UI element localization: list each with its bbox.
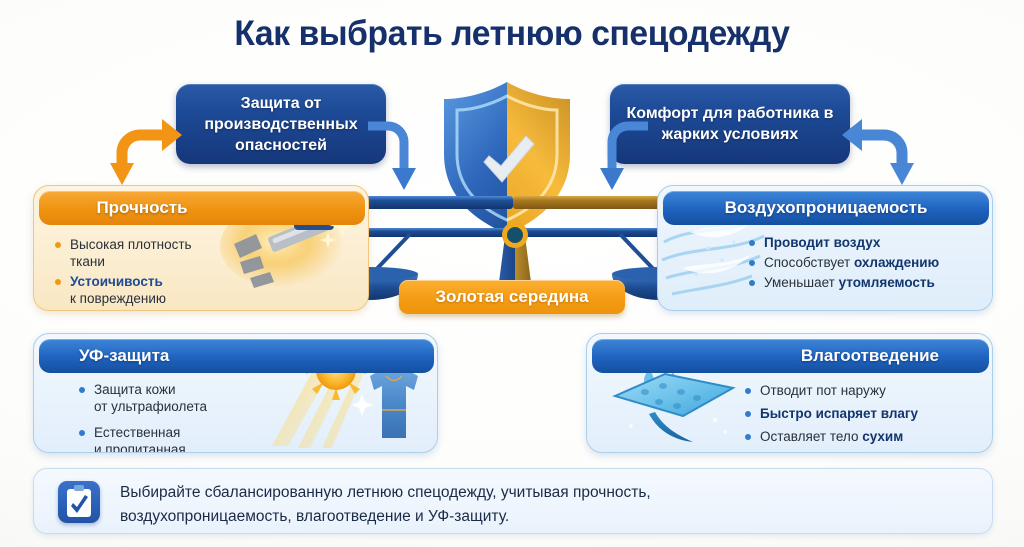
clipboard-check-icon: [58, 481, 100, 523]
card-breathability-list: Проводит воздух Способствует охлаждению …: [748, 234, 988, 294]
card-strength-list: Высокая плотность ткани Устоичивость к п…: [54, 236, 254, 310]
card-wicking-list: Отводит пот наружу Быстро испаряет влагу…: [744, 382, 993, 451]
list-item: Уменьшает утомляемость: [748, 274, 988, 291]
list-item: Отводит пот наружу: [744, 382, 993, 399]
list-item: Способствует охлаждению: [748, 254, 988, 271]
footer-text: Выбирайте сбалансированную летнюю спецод…: [120, 481, 972, 529]
list-item: Оставляет тело сухим: [744, 428, 993, 445]
card-breathability-title: Воздухопроницаемость: [663, 191, 989, 225]
infographic-canvas: Как выбрать летнюю спецодежду Защита от …: [0, 0, 1024, 547]
card-uv-list: Защита кожи от ультрафиолета Естественна…: [78, 381, 298, 453]
list-item: Естественная и пропитанная: [78, 424, 298, 453]
card-uv-protection: УФ-защита Защита кожи от ультрафиолета Е…: [33, 333, 438, 453]
list-item: Устоичивость к повреждению: [54, 273, 254, 307]
list-item: Быстро испаряет влагу: [744, 405, 993, 422]
card-strength: Прочность Высокая плотность ткани Устоич…: [33, 185, 369, 311]
list-item: Высокая плотность ткани: [54, 236, 254, 270]
curved-arrow-blue-icon: [842, 105, 914, 197]
golden-middle-badge: Золотая середина: [399, 280, 625, 314]
top-box-hazard-protection: Защита от производственных опасностей: [176, 84, 386, 164]
page-title: Как выбрать летнюю спецодежду: [20, 14, 1003, 54]
footer-summary: Выбирайте сбалансированную летнюю спецод…: [33, 468, 993, 534]
card-uv-title: УФ-защита: [39, 339, 434, 373]
card-strength-title: Прочность: [39, 191, 365, 225]
top-box-worker-comfort: Комфорт для работника в жарких условиях: [610, 84, 850, 164]
list-item: Защита кожи от ультрафиолета: [78, 381, 298, 415]
card-wicking-title: Влагоотведение: [592, 339, 989, 373]
card-moisture-wicking: Влагоотведение Отводит пот наружу Быстро…: [586, 333, 993, 453]
card-breathability: Воздухопроницаемость Проводит воздух Спо…: [657, 185, 993, 311]
curved-arrow-orange-icon: [110, 105, 182, 197]
list-item: Проводит воздух: [748, 234, 988, 251]
